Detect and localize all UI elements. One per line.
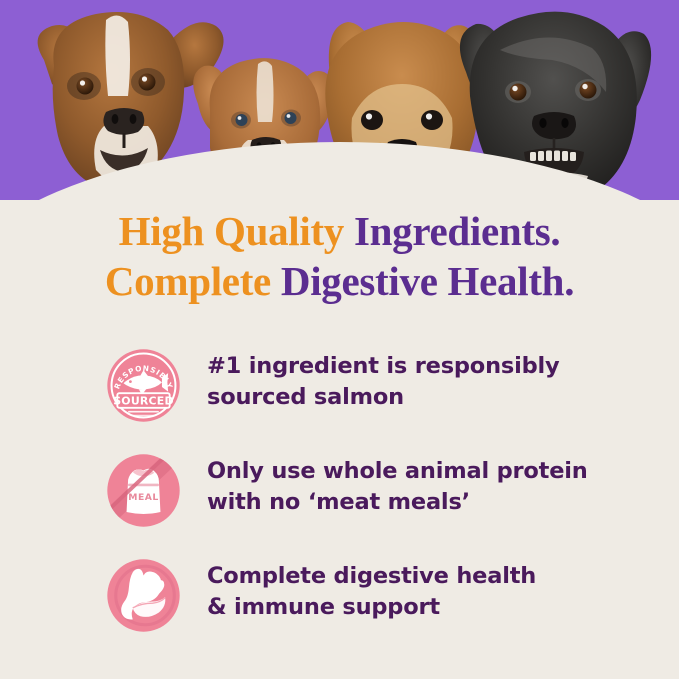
responsibly-sourced-badge-icon: RESPONSIBLY SOURCED [105,347,182,424]
benefit-item-digestive-health: Complete digestive health & immune suppo… [0,554,679,659]
dog-food-infographic: High Quality Ingredients. Complete Diges… [0,0,679,679]
headline-line-1: High Quality Ingredients. [0,206,679,256]
benefit-line-1: #1 ingredient is responsibly [207,351,657,382]
benefit-line-1: Only use whole animal protein [207,456,657,487]
headline-line-1-orange: High Quality [119,208,354,254]
headline-line-1-purple: Ingredients. [354,208,560,254]
benefit-text-digestive-health: Complete digestive health & immune suppo… [207,561,657,623]
no-meat-meal-bag-icon: MEAL [105,452,182,529]
hero-banner [0,0,679,200]
headline-line-2-purple: Digestive Health. [281,258,574,304]
benefit-text-no-meat-meal: Only use whole animal protein with no ‘m… [207,456,657,518]
headline-line-2-orange: Complete [105,258,281,304]
headline-line-2: Complete Digestive Health. [0,256,679,306]
badge-banner-text: SOURCED [113,394,174,407]
benefit-text-sourced: #1 ingredient is responsibly sourced sal… [207,351,657,413]
benefit-line-2: with no ‘meat meals’ [207,487,657,518]
benefit-item-sourced: RESPONSIBLY SOURCED #1 ingre [0,344,679,449]
benefit-line-2: sourced salmon [207,382,657,413]
benefits-list: RESPONSIBLY SOURCED #1 ingre [0,344,679,659]
benefit-line-1: Complete digestive health [207,561,657,592]
stomach-heart-icon [105,557,182,634]
benefit-line-2: & immune support [207,592,657,623]
feed-bag-label: MEAL [128,492,158,503]
page-title: High Quality Ingredients. Complete Diges… [0,206,679,306]
benefit-item-no-meat-meal: MEAL Only use whole animal protein with … [0,449,679,554]
